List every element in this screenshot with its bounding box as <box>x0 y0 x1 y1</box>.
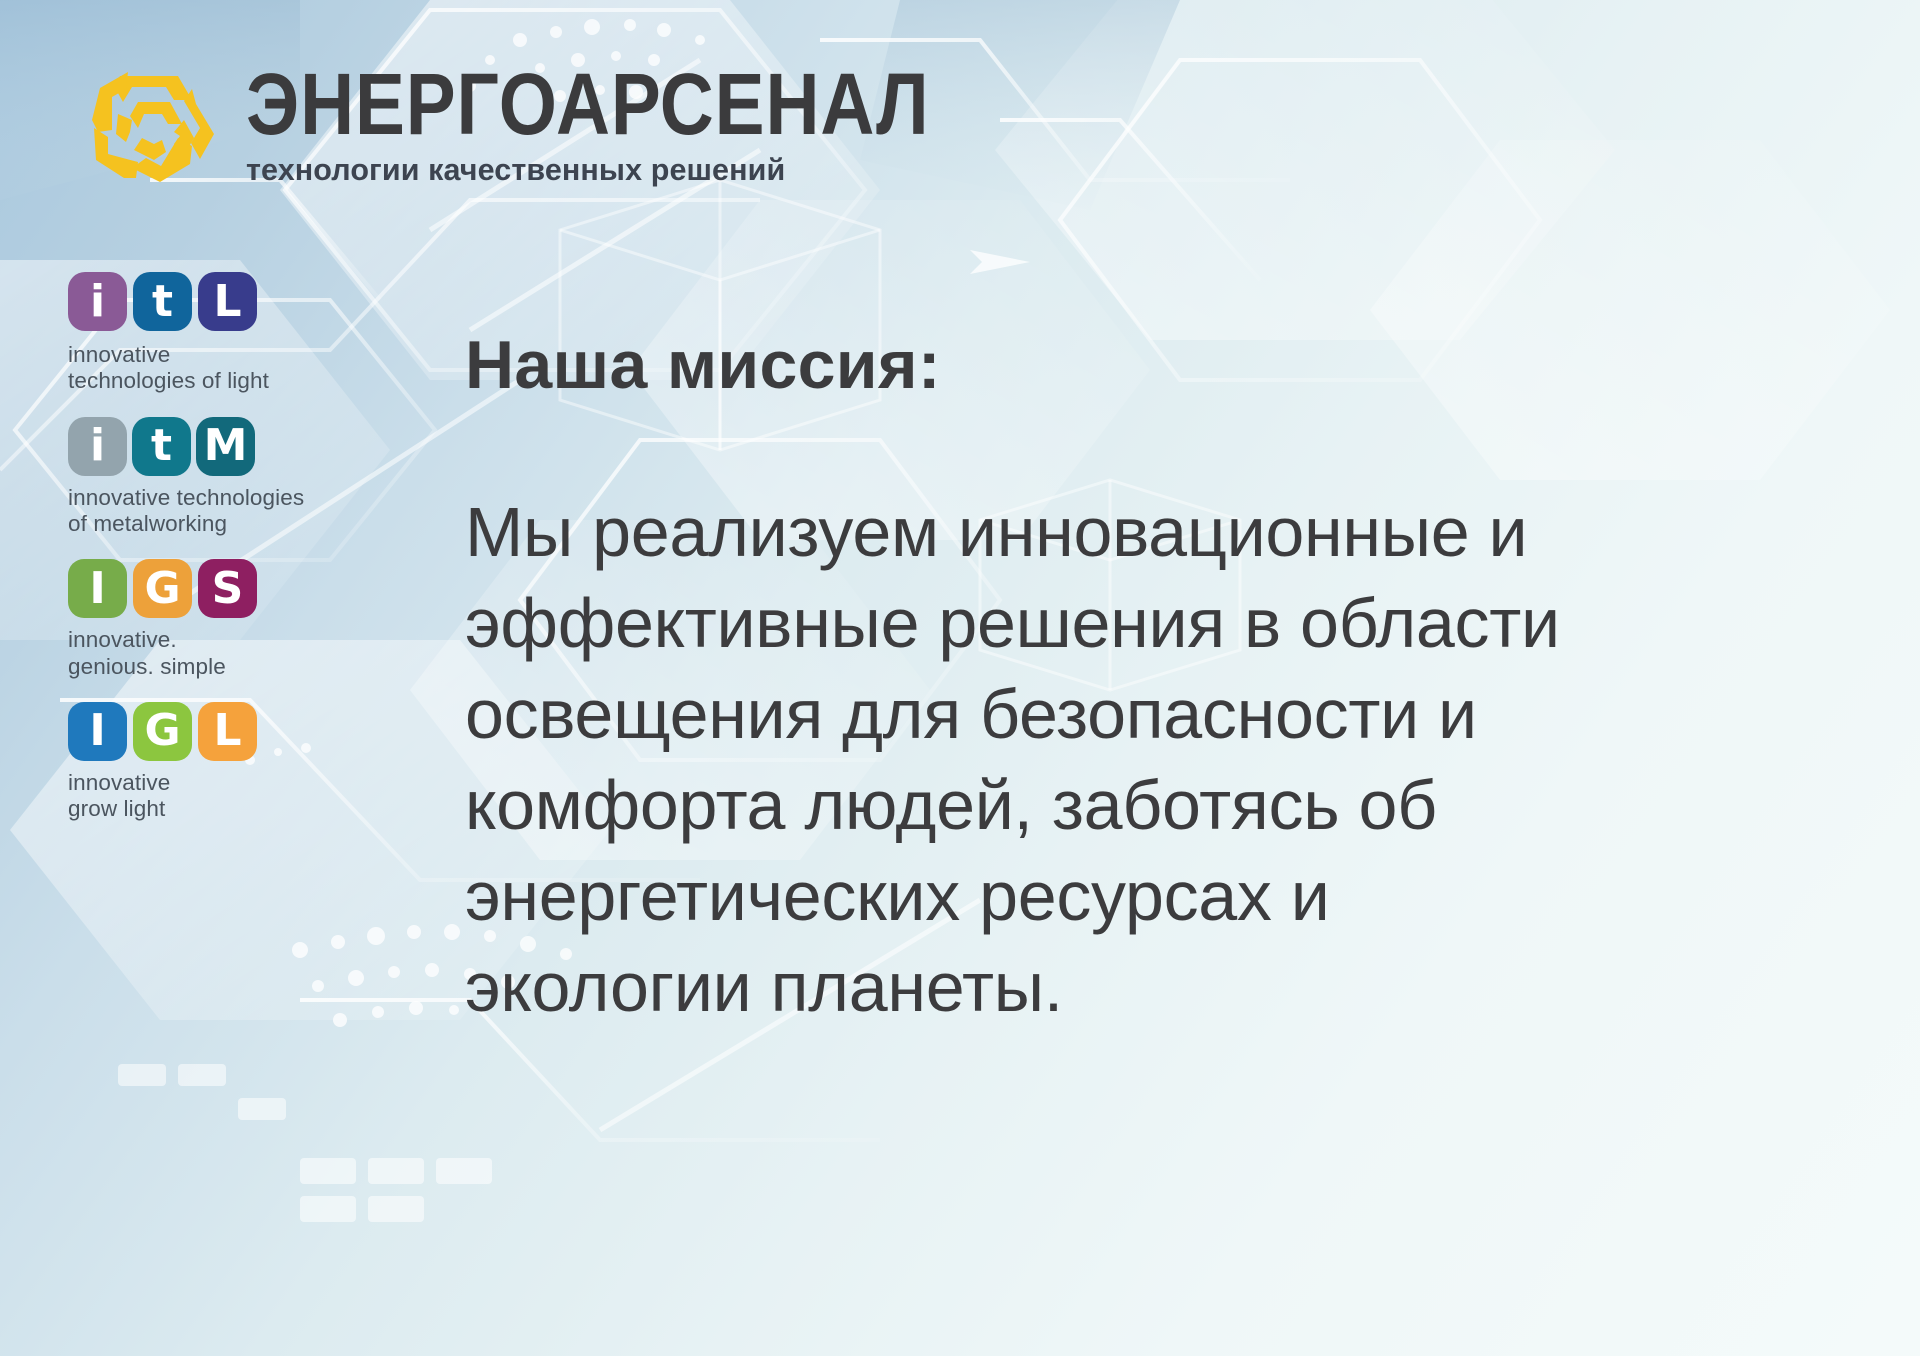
logo-title: ЭНЕРГОАРСЕНАЛ <box>246 64 930 147</box>
mission-line-6: экологии планеты. <box>465 942 1805 1033</box>
brand-igl-caption-line-1: innovative <box>68 770 368 796</box>
brand-itm-tiles: i t M <box>68 417 368 476</box>
brand-igs-caption-line-1: innovative. <box>68 627 368 653</box>
brand-itm-tile-1: i <box>68 417 127 476</box>
brand-itm-tile-3: M <box>196 417 255 476</box>
brand-itl-caption-line-2: technologies of light <box>68 368 368 394</box>
brand-itl: i t L innovative technologies of light <box>68 272 368 395</box>
brand-itl-tiles: i t L <box>68 272 368 331</box>
brand-igl-tile-1: I <box>68 702 127 761</box>
brand-itl-tile-1: i <box>68 272 127 331</box>
mission-line-1: Мы реализуем инновационные и <box>465 487 1805 578</box>
brand-itl-caption-line-1: innovative <box>68 342 368 368</box>
mission-line-2: эффективные решения в области <box>465 578 1805 669</box>
brand-igs: I G S innovative. genious. simple <box>68 559 368 680</box>
brand-igl-tile-3: L <box>198 702 257 761</box>
brand-igl: I G L innovative grow light <box>68 702 368 823</box>
page-title: Наша миссия: <box>465 330 1805 401</box>
mission-line-4: комфорта людей, заботясь об <box>465 760 1805 851</box>
presentation-slide: ЭНЕРГОАРСЕНАЛ технологии качественных ре… <box>0 0 1920 1356</box>
slide-content: Наша миссия: Мы реализуем инновационные … <box>465 330 1805 1033</box>
brand-igs-tile-2: G <box>133 559 192 618</box>
brand-igl-caption: innovative grow light <box>68 770 368 823</box>
brand-igl-tiles: I G L <box>68 702 368 761</box>
logo-tagline: технологии качественных решений <box>246 153 1041 188</box>
mission-statement: Мы реализуем инновационные и эффективные… <box>465 487 1805 1033</box>
brand-itm-tile-2: t <box>132 417 191 476</box>
brand-igs-tiles: I G S <box>68 559 368 618</box>
company-logo: ЭНЕРГОАРСЕНАЛ технологии качественных ре… <box>78 58 1041 190</box>
brand-itm-caption-line-2: of metalworking <box>68 511 368 537</box>
energoarsenal-hexagon-logomark <box>78 58 224 190</box>
sub-brand-list: i t L innovative technologies of light i… <box>68 272 368 845</box>
mission-line-5: энергетических ресурсах и <box>465 851 1805 942</box>
brand-itl-tile-2: t <box>133 272 192 331</box>
brand-igs-tile-3: S <box>198 559 257 618</box>
brand-igl-tile-2: G <box>133 702 192 761</box>
brand-itm: i t M innovative technologies of metalwo… <box>68 417 368 538</box>
brand-igs-caption-line-2: genious. simple <box>68 654 368 680</box>
brand-itl-caption: innovative technologies of light <box>68 342 368 395</box>
brand-itm-caption: innovative technologies of metalworking <box>68 485 368 538</box>
brand-itm-caption-line-1: innovative technologies <box>68 485 368 511</box>
brand-igs-tile-1: I <box>68 559 127 618</box>
brand-igl-caption-line-2: grow light <box>68 796 368 822</box>
brand-itl-tile-3: L <box>198 272 257 331</box>
brand-igs-caption: innovative. genious. simple <box>68 627 368 680</box>
mission-line-3: освещения для безопасности и <box>465 669 1805 760</box>
